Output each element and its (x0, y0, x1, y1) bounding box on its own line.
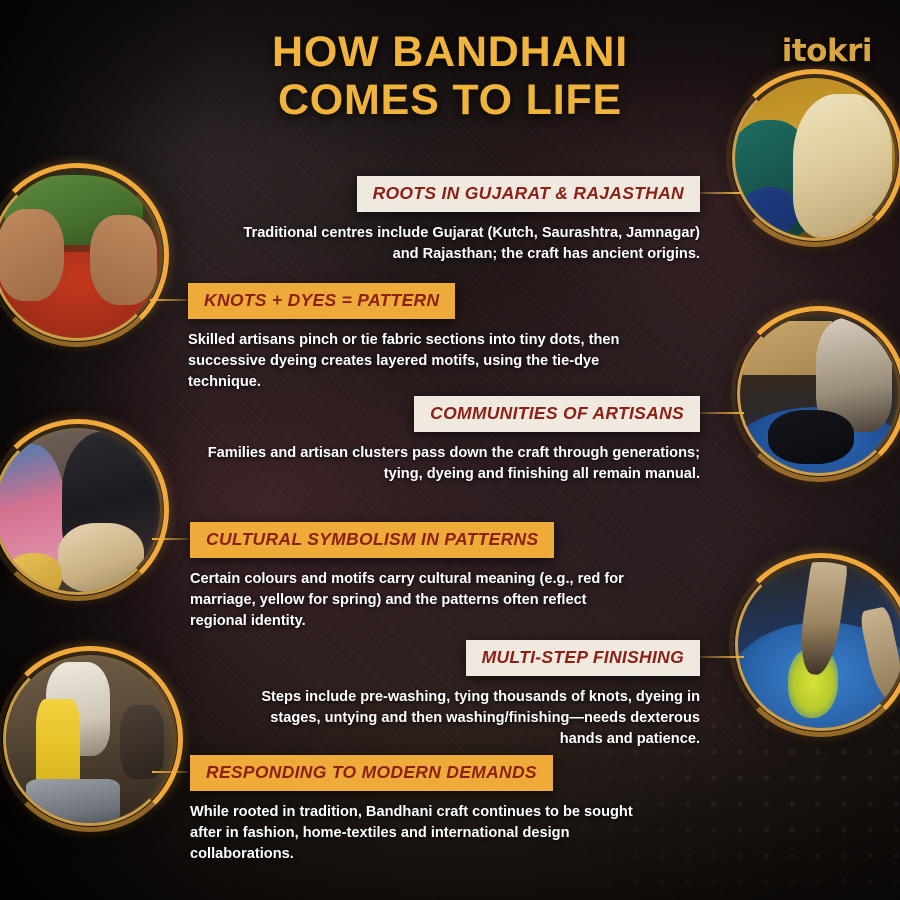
section-label-4[interactable]: CULTURAL SYMBOLISM IN PATTERNS (190, 522, 554, 558)
photo-indigo-vat-dipping (738, 562, 900, 728)
photo-scene (6, 655, 174, 823)
title-line-1: HOW BANDHANI (0, 28, 900, 76)
connector-line-4 (152, 538, 188, 540)
photo-disc (740, 315, 898, 473)
photo-scene (738, 562, 900, 728)
photo-dyer-blue-vat (740, 315, 898, 473)
section-body-2: Skilled artisans pinch or tie fabric sec… (188, 330, 628, 393)
page-title: HOW BANDHANI COMES TO LIFE (0, 28, 900, 124)
infographic-poster: HOW BANDHANI COMES TO LIFE itokri (0, 0, 900, 900)
photo-scene (0, 172, 160, 338)
section-body-4: Certain colours and motifs carry cultura… (190, 569, 630, 632)
section-roots-in-gujarat-rajasthan: ROOTS IN GUJARAT & RAJASTHAN Traditional… (230, 176, 700, 265)
section-body-6: While rooted in tradition, Bandhani craf… (190, 802, 650, 865)
title-line-2: COMES TO LIFE (0, 76, 900, 124)
section-knots-dyes-pattern: KNOTS + DYES = PATTERN Skilled artisans … (188, 283, 628, 393)
section-body-5: Steps include pre-washing, tying thousan… (250, 687, 700, 750)
section-body-3: Families and artisan clusters pass down … (200, 443, 700, 485)
photo-dyer-lifting-yellow-cloth (6, 655, 174, 823)
connector-line-3 (700, 412, 744, 414)
section-label-6[interactable]: RESPONDING TO MODERN DEMANDS (190, 755, 553, 791)
photo-disc (0, 172, 160, 338)
section-multi-step-finishing: MULTI-STEP FINISHING Steps include pre-w… (250, 640, 700, 750)
photo-hands-tying-red-cloth (0, 172, 160, 338)
section-label-2[interactable]: KNOTS + DYES = PATTERN (188, 283, 455, 319)
photo-scene (0, 428, 160, 592)
brand-logo[interactable]: itokri (782, 33, 872, 69)
section-responding-to-modern-demands: RESPONDING TO MODERN DEMANDS While roote… (190, 755, 650, 865)
photo-disc (6, 655, 174, 823)
connector-line-6 (152, 771, 188, 773)
connector-line-2 (150, 299, 190, 301)
photo-women-artisans-working (0, 428, 160, 592)
photo-disc (0, 428, 160, 592)
section-label-5[interactable]: MULTI-STEP FINISHING (466, 640, 700, 676)
connector-line-1 (697, 192, 741, 194)
section-cultural-symbolism-in-patterns: CULTURAL SYMBOLISM IN PATTERNS Certain c… (190, 522, 630, 632)
section-label-3[interactable]: COMMUNITIES OF ARTISANS (414, 396, 700, 432)
connector-line-5 (700, 656, 744, 658)
photo-scene (740, 315, 898, 473)
section-communities-of-artisans: COMMUNITIES OF ARTISANS Families and art… (200, 396, 700, 485)
section-body-1: Traditional centres include Gujarat (Kut… (230, 223, 700, 265)
section-label-1[interactable]: ROOTS IN GUJARAT & RAJASTHAN (357, 176, 700, 212)
photo-disc (738, 562, 900, 728)
